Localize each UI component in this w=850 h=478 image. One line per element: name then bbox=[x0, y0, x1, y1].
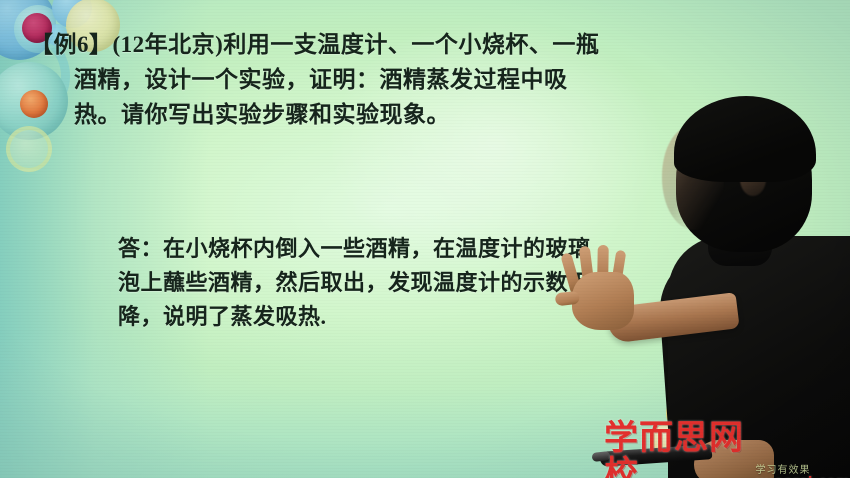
watermark-tagline: 学习有效果 bbox=[755, 465, 850, 476]
watermark-side: 学习有效果 xueersi.com bbox=[755, 465, 850, 478]
watermark-brand: 学而思网校 bbox=[604, 420, 752, 478]
question-line-1: 【例6】(12年北京)利用一支温度计、一个小烧杯、一瓶 bbox=[30, 27, 670, 62]
video-frame: 【例6】(12年北京)利用一支温度计、一个小烧杯、一瓶 酒精，设计一个实验，证明… bbox=[0, 0, 850, 478]
question-line-3: 热。请你写出实验步骤和实验现象。 bbox=[30, 97, 670, 132]
watermark: 学而思网校 学习有效果 xueersi.com bbox=[604, 420, 850, 478]
pale-ring-small bbox=[6, 126, 52, 172]
question-line-2: 酒精，设计一个实验，证明：酒精蒸发过程中吸 bbox=[30, 62, 670, 97]
slide-question-text: 【例6】(12年北京)利用一支温度计、一个小烧杯、一瓶 酒精，设计一个实验，证明… bbox=[30, 27, 670, 132]
presenter-hand bbox=[572, 272, 634, 330]
presenter-hair bbox=[674, 96, 816, 182]
presenter bbox=[590, 0, 850, 478]
